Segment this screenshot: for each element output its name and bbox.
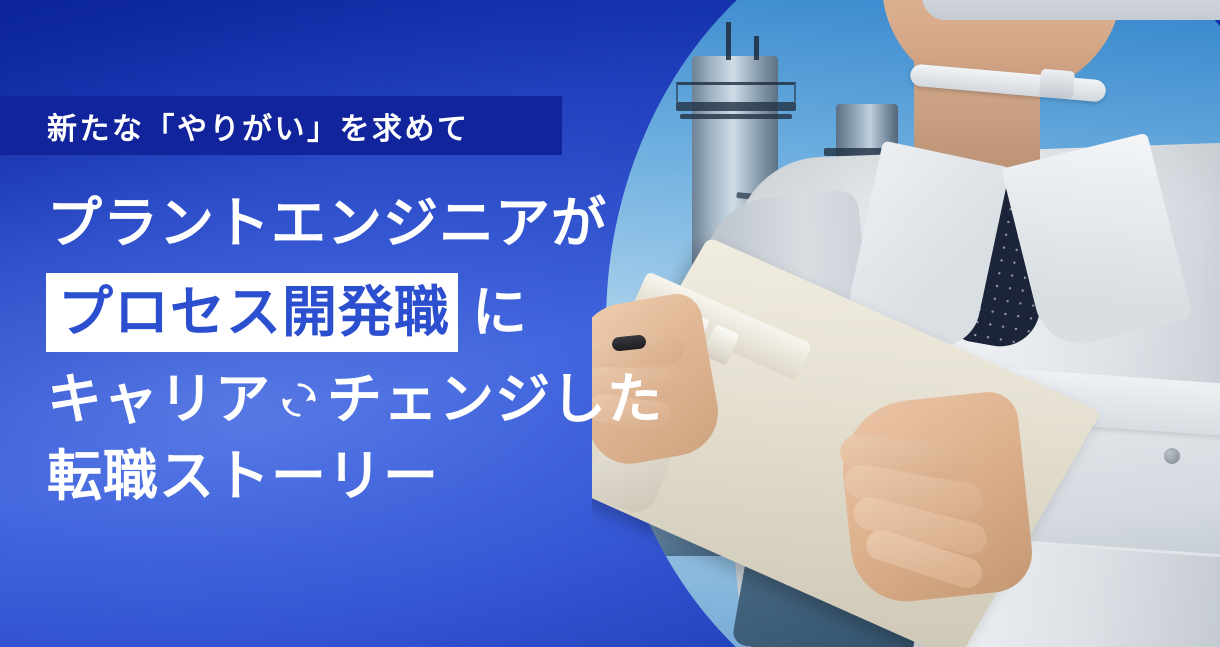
worker-subject: AdobeStock AdobeStock AdobeStock AdobeSt… [592,0,1220,647]
chin-strap-buckle [1039,69,1075,100]
headline-line-2: プロセス開発職 に [46,273,607,352]
highlight-box: プロセス開発職 [46,273,458,352]
headline-block: 新たな「やりがい」を求めて プラントエンジニアが プロセス開発職 に キャリア [0,0,600,647]
headline-lines: プラントエンジニアが プロセス開発職 に キャリア チェンジした 転職ストーリ [47,196,607,504]
headline-line-2-suffix: に [472,285,528,340]
eyebrow-banner: 新たな「やりがい」を求めて [0,96,562,155]
hard-hat-icon [922,0,1220,20]
headline-line-3-prefix: キャリア [47,372,271,427]
headline-line-4: 転職ストーリー [47,449,607,504]
headline-line-3-suffix: チェンジした [327,372,663,427]
headline-line-3: キャリア チェンジした [47,372,607,427]
eyebrow-text: 新たな「やりがい」を求めて [0,104,470,148]
hero-banner: AdobeStock AdobeStock AdobeStock AdobeSt… [0,0,1220,647]
cycle-arrows-icon [277,376,321,424]
pocket-button [1164,448,1180,464]
headline-line-1: プラントエンジニアが [47,196,607,251]
